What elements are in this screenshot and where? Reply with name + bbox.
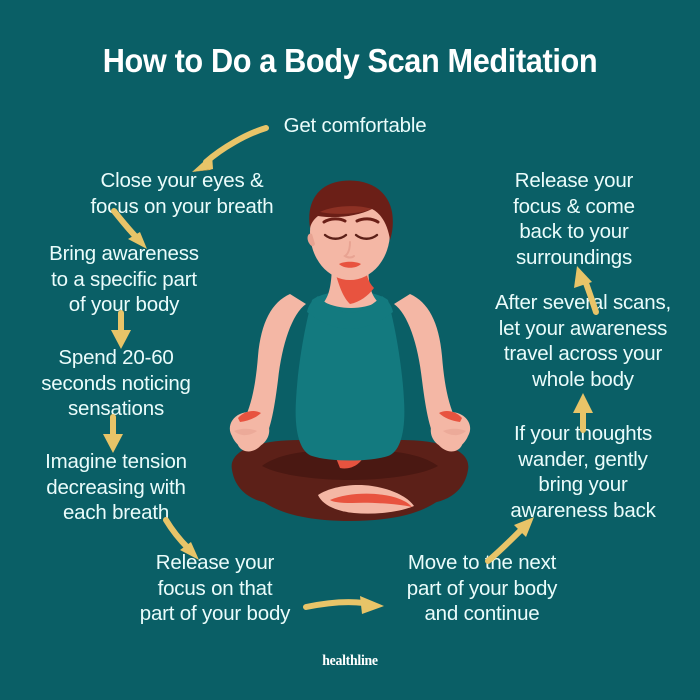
arrow-to-spend-seconds: [108, 311, 134, 351]
step-if-thoughts-wander: If your thoughts wander, gently bring yo…: [483, 421, 683, 523]
arrow-to-release-focus: [158, 516, 208, 564]
step-release-your-focus: Release your focus on that part of your …: [115, 550, 315, 627]
arrow-to-imagine-tension: [100, 415, 126, 455]
step-release-come-back: Release your focus & come back to your s…: [486, 168, 662, 270]
arrow-to-thoughts-wander: [480, 515, 540, 567]
arrow-to-bring-awareness: [100, 207, 156, 253]
step-imagine-tension: Imagine tension decreasing with each bre…: [18, 449, 214, 526]
arrow-to-release-comeback: [572, 264, 606, 314]
arrow-to-move-next-part: [302, 592, 388, 618]
arrow-to-several-scans: [570, 390, 596, 432]
arrow-to-close-eyes: [182, 122, 272, 180]
step-spend-20-60-seconds: Spend 20-60 seconds noticing sensations: [18, 345, 214, 422]
page-title: How to Do a Body Scan Meditation: [25, 42, 676, 80]
healthline-logo: healthline: [28, 653, 672, 670]
step-get-comfortable: Get comfortable: [240, 113, 470, 139]
meditating-person-illustration: [230, 181, 470, 521]
